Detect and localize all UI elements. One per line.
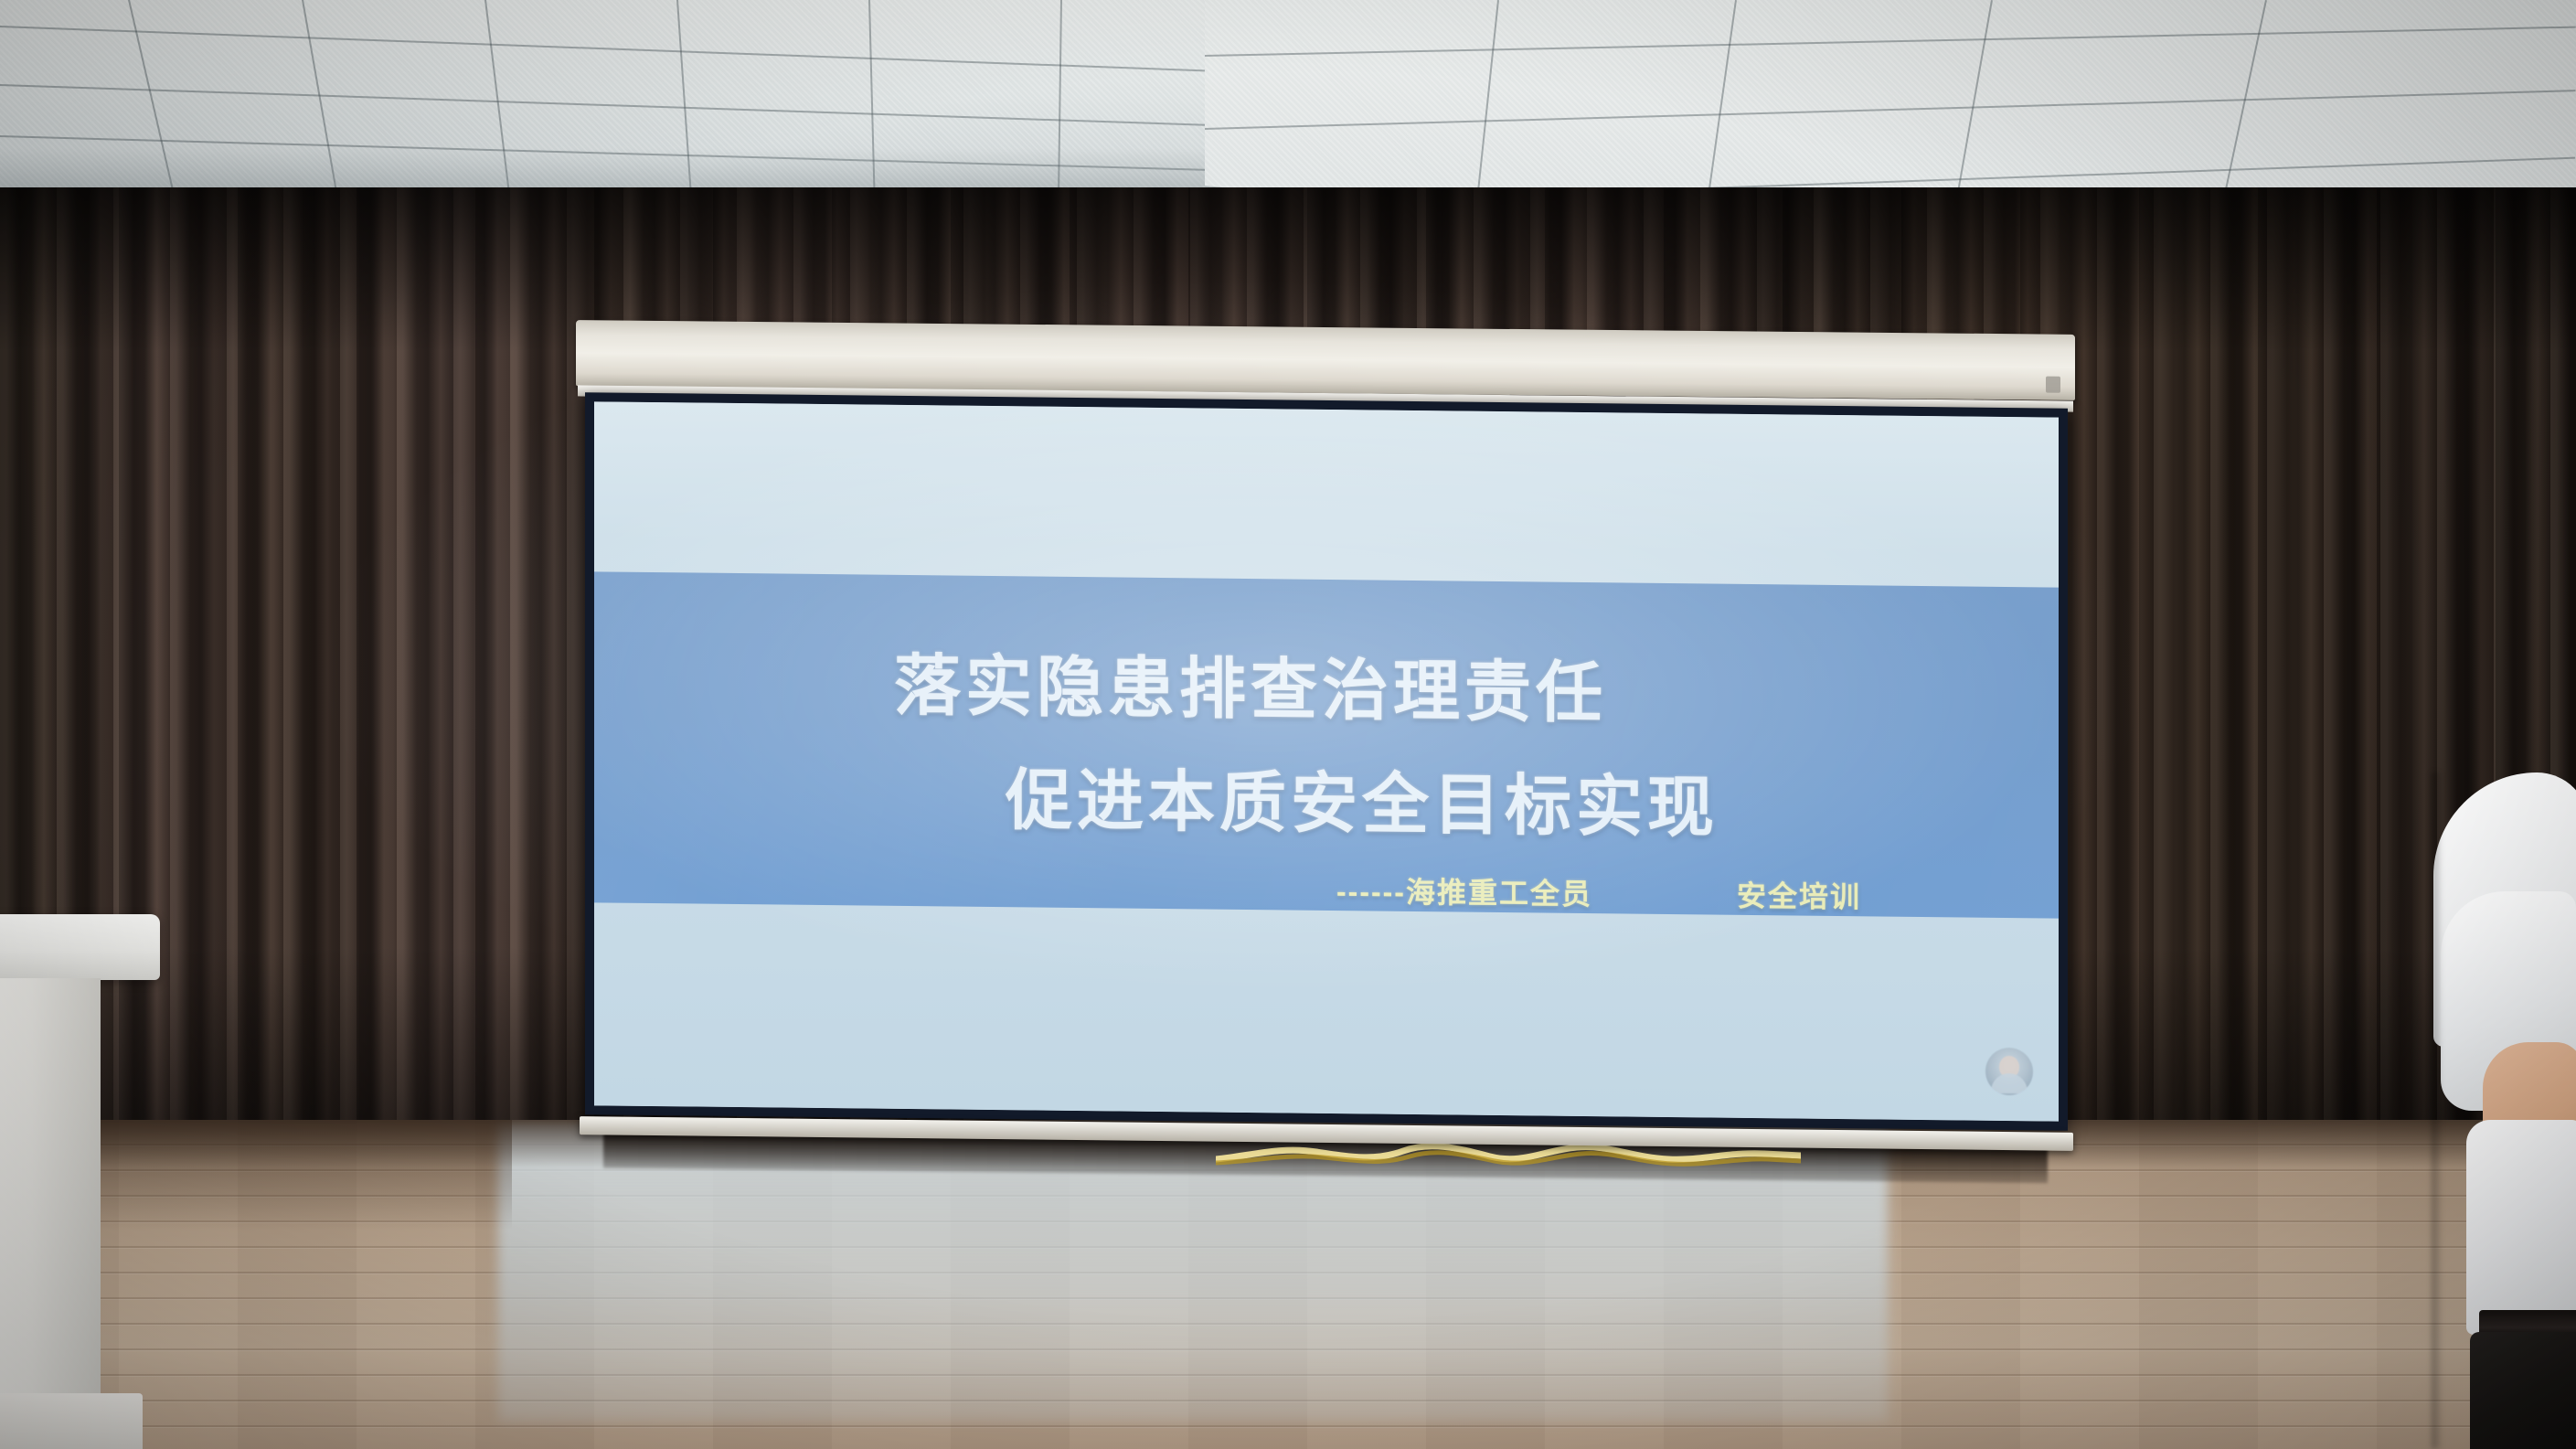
person-trousers	[2470, 1332, 2576, 1449]
screen-frame: 落实隐患排查治理责任 促进本质安全目标实现 ------海推重工全员 安全培训 …	[585, 392, 2068, 1131]
projection-screen[interactable]: 落实隐患排查治理责任 促进本质安全目标实现 ------海推重工全员 安全培训 …	[576, 302, 2084, 1216]
person-torso	[2466, 1120, 2576, 1335]
lectern[interactable]	[0, 914, 165, 1449]
slide-title-band: 落实隐患排查治理责任 促进本质安全目标实现 ------海推重工全员 安全培训	[594, 571, 2059, 918]
slide-canvas[interactable]: 落实隐患排查治理责任 促进本质安全目标实现 ------海推重工全员 安全培训 …	[594, 401, 2059, 1121]
slide-date: 2025年7月16日	[1519, 1110, 1768, 1121]
housing-end-cap	[2046, 377, 2060, 393]
lectern-column	[0, 978, 101, 1408]
lectern-base	[0, 1393, 143, 1449]
slide-subtitle-left: ------海推重工全员	[1336, 868, 1592, 913]
lectern-top	[0, 914, 160, 980]
band-sheen	[594, 571, 2059, 918]
presenter-avatar-icon	[1985, 1048, 2033, 1096]
slide-title-line-2: 促进本质安全目标实现	[1006, 746, 1719, 850]
person-edge-shadow	[2432, 772, 2443, 1449]
slide-subtitle-right: 安全培训	[1737, 873, 1861, 916]
standing-person	[2395, 772, 2576, 1449]
avatar-body	[1991, 1073, 2028, 1093]
conference-room-scene: 落实隐患排查治理责任 促进本质安全目标实现 ------海推重工全员 安全培训 …	[0, 0, 2576, 1449]
slide-title-line-1: 落实隐患排查治理责任	[894, 632, 1607, 736]
screen-surface[interactable]: 落实隐患排查治理责任 促进本质安全目标实现 ------海推重工全员 安全培训 …	[594, 401, 2059, 1121]
slide-subtitle-row: ------海推重工全员 安全培训	[1336, 868, 1861, 916]
